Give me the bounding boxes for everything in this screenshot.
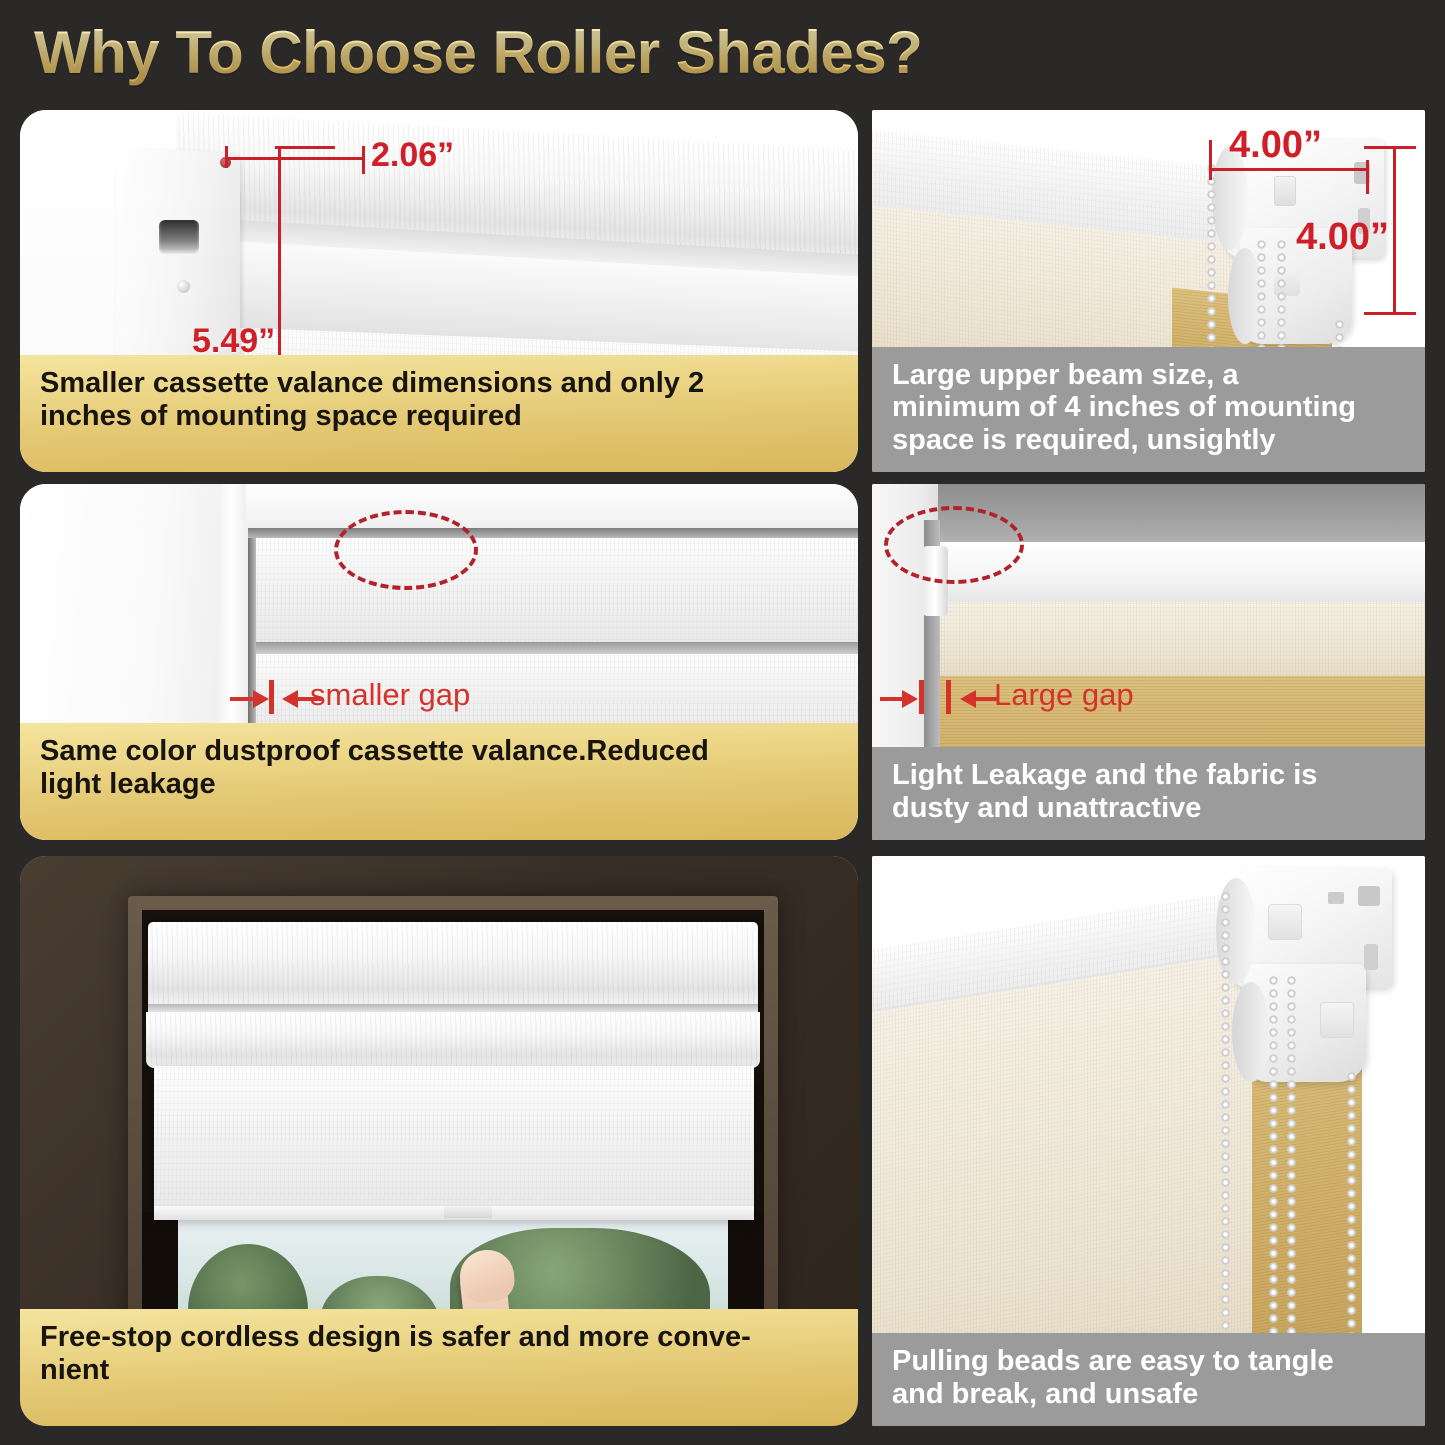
caption-bottom-right: Pulling beads are easy to tangle and bre… [872, 1333, 1425, 1426]
bead-chain-1 [1220, 890, 1231, 1410]
panel-middle-left: smaller gap Same color dustproof cassett… [20, 484, 858, 840]
dim-beam-width-label: 4.00” [1229, 124, 1322, 167]
caption-line: light leakage [40, 768, 838, 800]
caption-line: inches of mounting space required [40, 400, 838, 432]
dim-beam-height-line [1393, 146, 1396, 314]
caption-top-right: Large upper beam size, a minimum of 4 in… [872, 347, 1425, 472]
dim-beam-height-label: 4.00” [1296, 216, 1389, 259]
gap-arrow-right [902, 690, 918, 708]
dim-beam-height-tick-top [1364, 146, 1416, 149]
gap-arrow-left [960, 690, 976, 708]
end-cap-slot [159, 220, 199, 254]
caption-line: space is required, unsightly [892, 424, 1405, 456]
cassette-valance [148, 922, 758, 1008]
bracket-emboss [1274, 176, 1296, 206]
caption-line: nient [40, 1354, 838, 1386]
caption-line: dusty and unattractive [892, 792, 1405, 824]
bracket-slot [1358, 886, 1380, 906]
bracket-slot [1328, 892, 1344, 904]
header-bar: Why To Choose Roller Shades? [0, 0, 1445, 104]
valance-bottom-roll [146, 1012, 760, 1068]
caption-middle-left: Same color dustproof cassette valance.Re… [20, 723, 858, 840]
bracket-slot [1364, 944, 1378, 970]
caption-line: Free-stop cordless design is safer and m… [40, 1321, 838, 1353]
caption-line: Smaller cassette valance dimensions and … [40, 367, 838, 399]
roller-end-disc [1232, 982, 1270, 1082]
bracket-emboss-icon [1320, 1002, 1354, 1038]
gap-arrow-left [282, 690, 298, 708]
panel-top-left: 2.06” 5.49” Smaller cassette valance dim… [20, 110, 858, 472]
caption-line: Same color dustproof cassette valance.Re… [40, 735, 838, 767]
panel-bottom-right: Pulling beads are easy to tangle and bre… [872, 856, 1425, 1426]
shade-fabric [154, 1066, 754, 1218]
dim-beam-width-tick-right [1366, 160, 1369, 194]
caption-top-left: Smaller cassette valance dimensions and … [20, 355, 858, 472]
gap-marker-bar-b [946, 680, 951, 714]
panel-middle-right: Large gap Light Leakage and the fabric i… [872, 484, 1425, 840]
end-cap-screw [177, 280, 190, 293]
pull-tab [444, 1206, 492, 1218]
bracket-emboss-icon [1268, 904, 1302, 940]
dim-width-tick-right [362, 146, 365, 174]
gap-label-large: Large gap [994, 677, 1134, 713]
gap-arrow-right [253, 690, 269, 708]
gap-marker-bar [269, 680, 274, 714]
highlight-ellipse-seam [334, 510, 478, 590]
dim-beam-width-tick-left [1209, 140, 1212, 180]
dim-height-tick-top [275, 146, 335, 149]
caption-line: Light Leakage and the fabric is [892, 759, 1405, 791]
page-title: Why To Choose Roller Shades? [34, 18, 922, 87]
caption-bottom-left: Free-stop cordless design is safer and m… [20, 1309, 858, 1426]
caption-middle-right: Light Leakage and the fabric is dusty an… [872, 747, 1425, 840]
highlight-ellipse-gap [884, 506, 1024, 584]
caption-line: Large upper beam size, a [892, 359, 1405, 391]
cream-fabric [938, 602, 1425, 680]
panel-top-right: 4.00” 4.00” Large upper beam size, a min… [872, 110, 1425, 472]
caption-line: minimum of 4 inches of mounting [892, 391, 1405, 423]
gap-marker-bar-a [919, 680, 924, 714]
dim-width-label: 2.06” [371, 136, 454, 175]
gap-label-smaller: smaller gap [310, 677, 470, 713]
gap-arrow-stem-left [880, 697, 904, 701]
dim-beam-width-line [1209, 168, 1369, 171]
window-casing-top [246, 484, 858, 528]
caption-line: and break, and unsafe [892, 1378, 1405, 1410]
caption-line: Pulling beads are easy to tangle [892, 1345, 1405, 1377]
dim-beam-height-tick-bottom [1364, 312, 1416, 315]
infographic-root: Why To Choose Roller Shades? [0, 0, 1445, 1445]
dim-width-line [225, 157, 365, 160]
panel-bottom-left: Free-stop cordless design is safer and m… [20, 856, 858, 1426]
